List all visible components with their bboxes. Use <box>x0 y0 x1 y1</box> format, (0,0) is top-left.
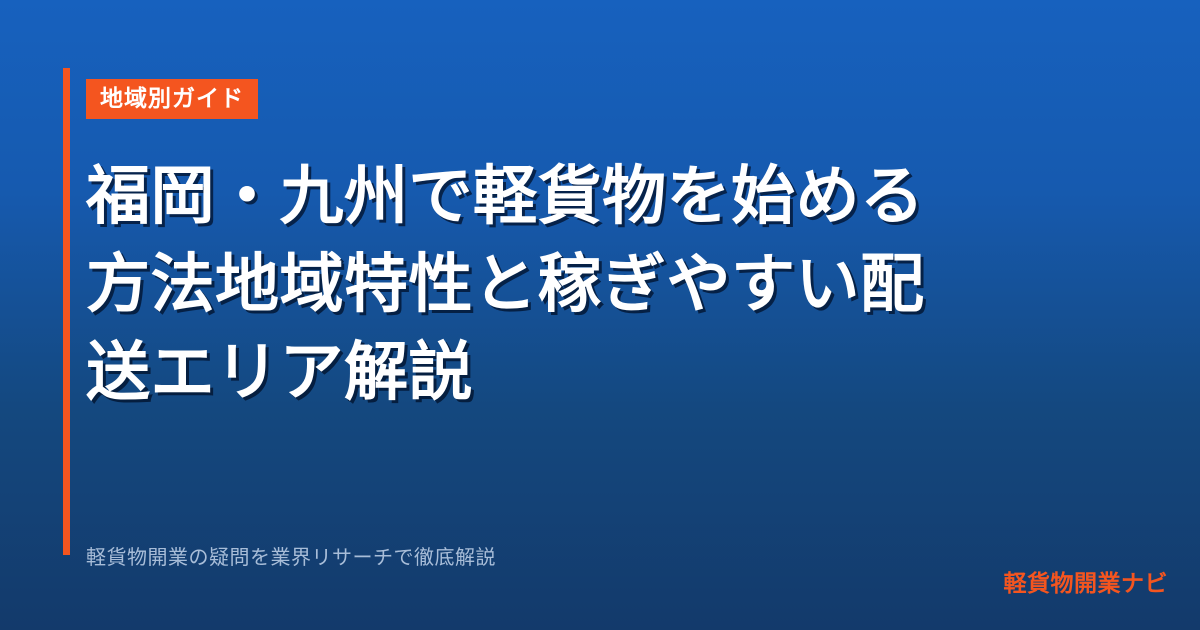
og-image-card: 地域別ガイド 福岡・九州で軽貨物を始める 方法地域特性と稼ぎやすい配 送エリア解… <box>0 0 1200 630</box>
site-brand-logo: 軽貨物開業ナビ <box>1004 572 1169 595</box>
left-accent-bar <box>63 68 70 555</box>
page-title-line-2: 方法地域特性と稼ぎやすい配 <box>86 240 1146 328</box>
category-badge: 地域別ガイド <box>86 79 258 119</box>
page-title-line-1: 福岡・九州で軽貨物を始める <box>86 152 1146 240</box>
site-tagline: 軽貨物開業の疑問を業界リサーチで徹底解説 <box>86 548 496 568</box>
page-title: 福岡・九州で軽貨物を始める 方法地域特性と稼ぎやすい配 送エリア解説 <box>86 152 1146 416</box>
page-title-line-3: 送エリア解説 <box>86 328 1146 416</box>
